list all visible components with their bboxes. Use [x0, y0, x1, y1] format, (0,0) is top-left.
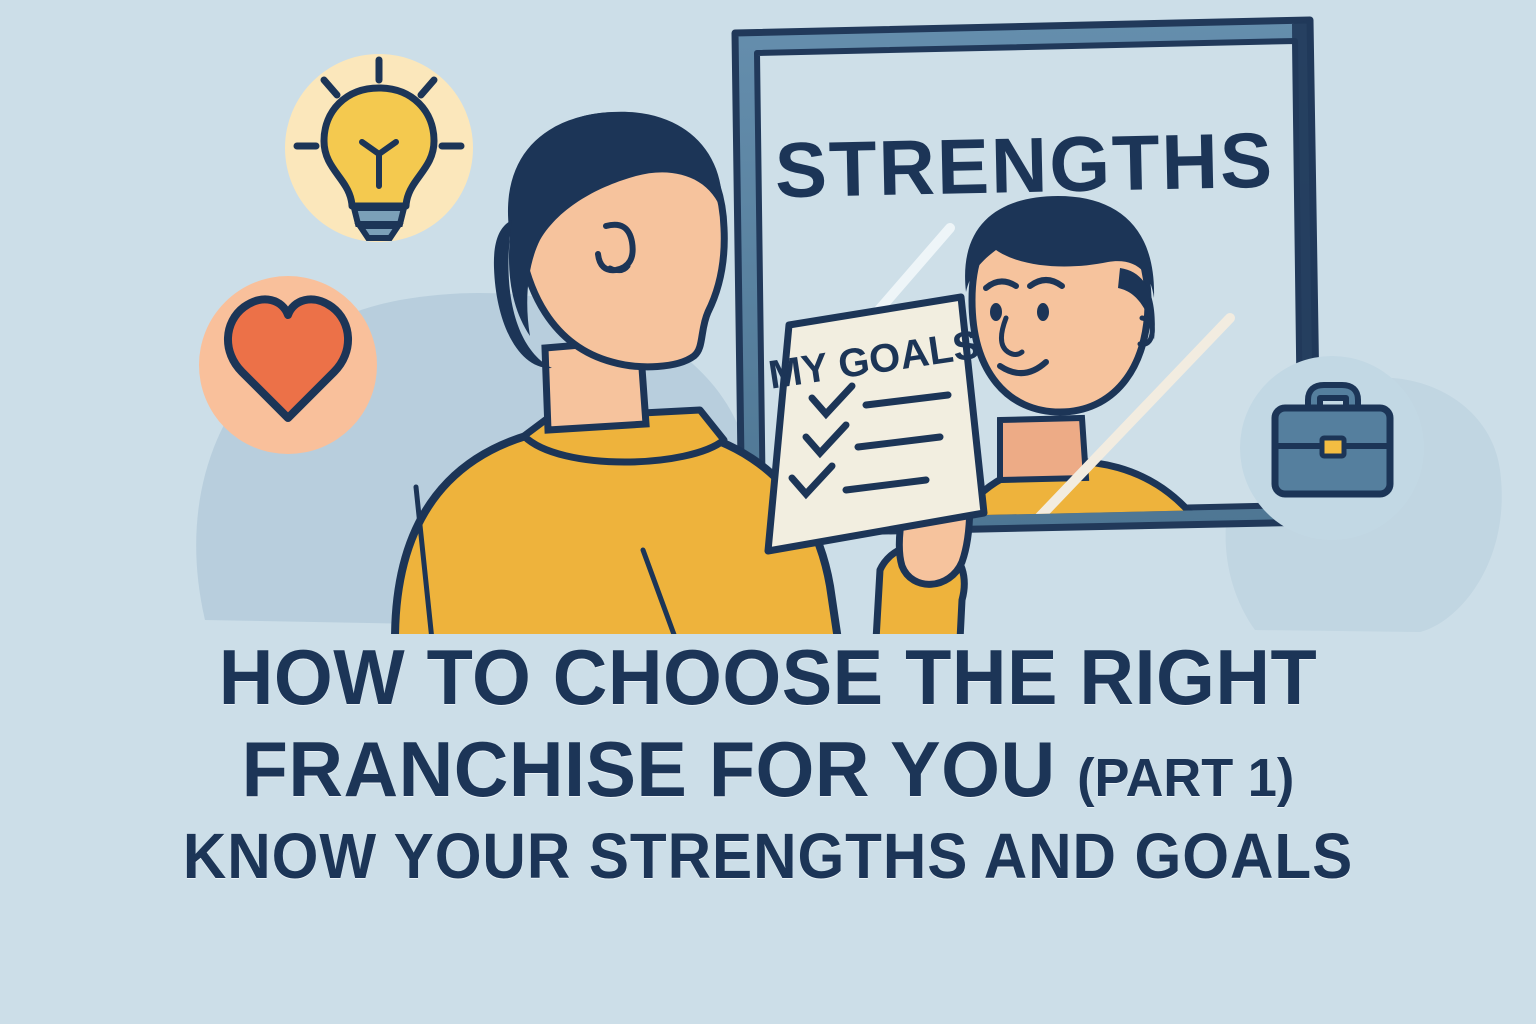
title-line-2-part-label: (PART 1) — [1077, 748, 1294, 808]
lightbulb-screw — [360, 226, 398, 238]
lightbulb-base — [354, 208, 404, 224]
title-line-2: FRANCHISE FOR YOU (PART 1) — [23, 730, 1513, 808]
title-block: HOW TO CHOOSE THE RIGHT FRANCHISE FOR YO… — [0, 638, 1536, 888]
mirror-strengths-label: STRENGTHS — [774, 116, 1275, 214]
lightbulb-icon — [285, 54, 473, 242]
reflection-eye-left — [990, 303, 1002, 321]
briefcase-icon — [1240, 356, 1424, 540]
reflection-neck — [1000, 418, 1086, 480]
heart-icon — [199, 276, 377, 454]
title-line-1: HOW TO CHOOSE THE RIGHT — [23, 638, 1513, 716]
reflection-eye-right — [1037, 303, 1049, 321]
title-line-3: KNOW YOUR STRENGTHS AND GOALS — [46, 824, 1490, 888]
poster-canvas: STRENGTHS — [0, 0, 1536, 1024]
briefcase-clasp — [1322, 438, 1344, 456]
title-line-2-main: FRANCHISE FOR YOU — [242, 725, 1077, 813]
